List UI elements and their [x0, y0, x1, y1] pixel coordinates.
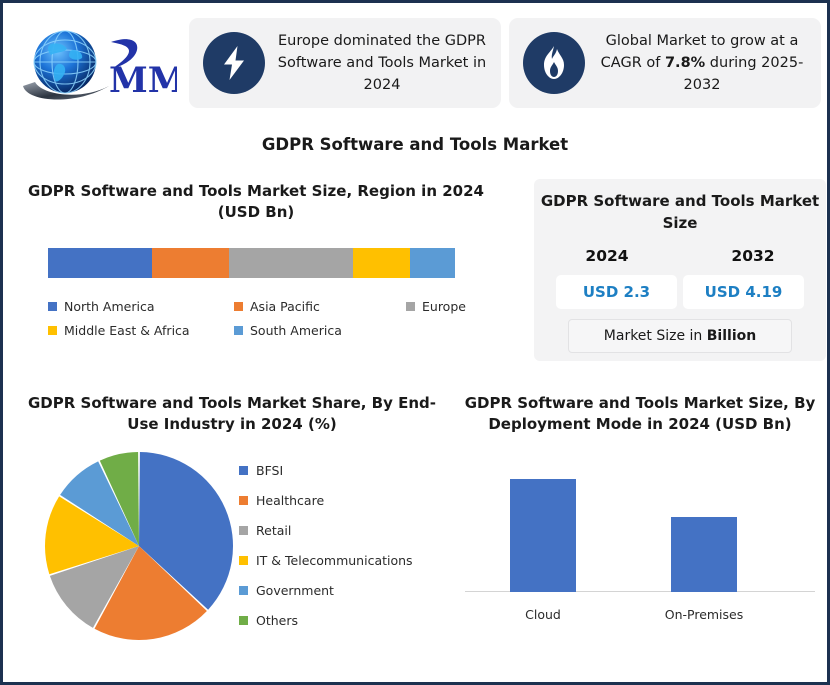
region-legend-item: Europe: [406, 299, 466, 314]
header-badge-europe: Europe dominated the GDPR Software and T…: [189, 18, 501, 108]
lightning-bolt-glyph: [219, 45, 249, 81]
header-bar: MMR Europe dominated the GDPR Software a…: [3, 3, 827, 115]
pie-legend-item: IT & Telecommunications: [239, 546, 413, 576]
region-chart-block: GDPR Software and Tools Market Size, Reg…: [21, 181, 491, 338]
deployment-chart-block: GDPR Software and Tools Market Size, By …: [453, 393, 827, 630]
lightning-bolt-icon: [203, 32, 265, 94]
infographic-page: MMR Europe dominated the GDPR Software a…: [0, 0, 830, 685]
deployment-tick-cloud: Cloud: [483, 607, 603, 622]
pie-legend-label: Retail: [256, 523, 291, 538]
pie-legend-label: BFSI: [256, 463, 283, 478]
flame-icon: [523, 32, 585, 94]
region-legend-item: Asia Pacific: [234, 299, 406, 314]
pie-legend-label: Others: [256, 613, 298, 628]
cagr-value: 7.8%: [665, 55, 705, 71]
region-stacked-bar: [48, 248, 455, 278]
pie-legend-label: IT & Telecommunications: [256, 553, 413, 568]
end-use-chart-title: GDPR Software and Tools Market Share, By…: [17, 393, 447, 436]
pie-legend-item: Government: [239, 576, 413, 606]
legend-swatch-icon: [239, 586, 248, 595]
header-badge-cagr-text: Global Market to grow at a CAGR of 7.8% …: [593, 30, 811, 96]
value-start: USD 2.3: [556, 275, 677, 309]
region-segment-north-america: [48, 248, 152, 278]
globe-logo-icon: MMR: [17, 20, 177, 106]
region-segment-south-america: [410, 248, 455, 278]
region-legend-label: South America: [250, 323, 342, 338]
region-legend-item: Middle East & Africa: [48, 323, 234, 338]
page-title: GDPR Software and Tools Market: [3, 135, 827, 154]
region-legend-item: South America: [234, 323, 406, 338]
deployment-plot-area: Cloud On-Premises: [453, 458, 827, 630]
header-badge-europe-text: Europe dominated the GDPR Software and T…: [273, 30, 491, 96]
end-use-pie-legend: BFSIHealthcareRetailIT & Telecommunicati…: [239, 456, 413, 636]
pie-legend-item: BFSI: [239, 456, 413, 486]
market-size-values: USD 2.3 USD 4.19: [534, 275, 826, 309]
flame-glyph: [540, 45, 568, 81]
pie-legend-item: Retail: [239, 516, 413, 546]
market-size-unit-note: Market Size in Billion: [568, 319, 792, 353]
end-use-chart-block: GDPR Software and Tools Market Share, By…: [17, 393, 447, 646]
legend-swatch-icon: [239, 556, 248, 565]
legend-swatch-icon: [239, 526, 248, 535]
year-end-label: 2032: [680, 247, 826, 265]
legend-swatch-icon: [239, 466, 248, 475]
region-legend-label: Europe: [422, 299, 466, 314]
year-start-label: 2024: [534, 247, 680, 265]
legend-swatch-icon: [48, 326, 57, 335]
svg-text:MMR: MMR: [109, 60, 177, 101]
region-chart-legend: North AmericaAsia PacificEuropeMiddle Ea…: [48, 299, 458, 338]
region-legend-label: Asia Pacific: [250, 299, 320, 314]
end-use-pie-area: BFSIHealthcareRetailIT & Telecommunicati…: [17, 450, 447, 646]
market-size-years: 2024 2032: [534, 247, 826, 265]
legend-swatch-icon: [234, 302, 243, 311]
region-segment-asia-pacific: [152, 248, 229, 278]
deployment-chart-title: GDPR Software and Tools Market Size, By …: [453, 393, 827, 436]
region-legend-label: North America: [64, 299, 155, 314]
region-segment-middle-east-africa: [353, 248, 410, 278]
pie-legend-item: Others: [239, 606, 413, 636]
legend-swatch-icon: [406, 302, 415, 311]
value-end: USD 4.19: [683, 275, 804, 309]
region-segment-europe: [229, 248, 353, 278]
deployment-bar-on-premises: [671, 517, 737, 592]
region-chart-title: GDPR Software and Tools Market Size, Reg…: [21, 181, 491, 224]
region-legend-item: North America: [48, 299, 234, 314]
pie-legend-label: Healthcare: [256, 493, 324, 508]
legend-swatch-icon: [239, 616, 248, 625]
unit-note-prefix: Market Size in: [604, 328, 707, 344]
header-badge-cagr: Global Market to grow at a CAGR of 7.8% …: [509, 18, 821, 108]
pie-legend-label: Government: [256, 583, 334, 598]
company-logo: MMR: [13, 15, 181, 111]
market-size-card: GDPR Software and Tools Market Size 2024…: [534, 179, 826, 361]
legend-swatch-icon: [239, 496, 248, 505]
deployment-tick-on-premises: On-Premises: [644, 607, 764, 622]
deployment-bar-cloud: [510, 479, 576, 591]
pie-legend-item: Healthcare: [239, 486, 413, 516]
market-size-card-title: GDPR Software and Tools Market Size: [534, 191, 826, 235]
legend-swatch-icon: [48, 302, 57, 311]
legend-swatch-icon: [234, 326, 243, 335]
region-legend-label: Middle East & Africa: [64, 323, 190, 338]
end-use-pie-chart: [43, 450, 235, 642]
unit-note-bold: Billion: [707, 328, 756, 344]
